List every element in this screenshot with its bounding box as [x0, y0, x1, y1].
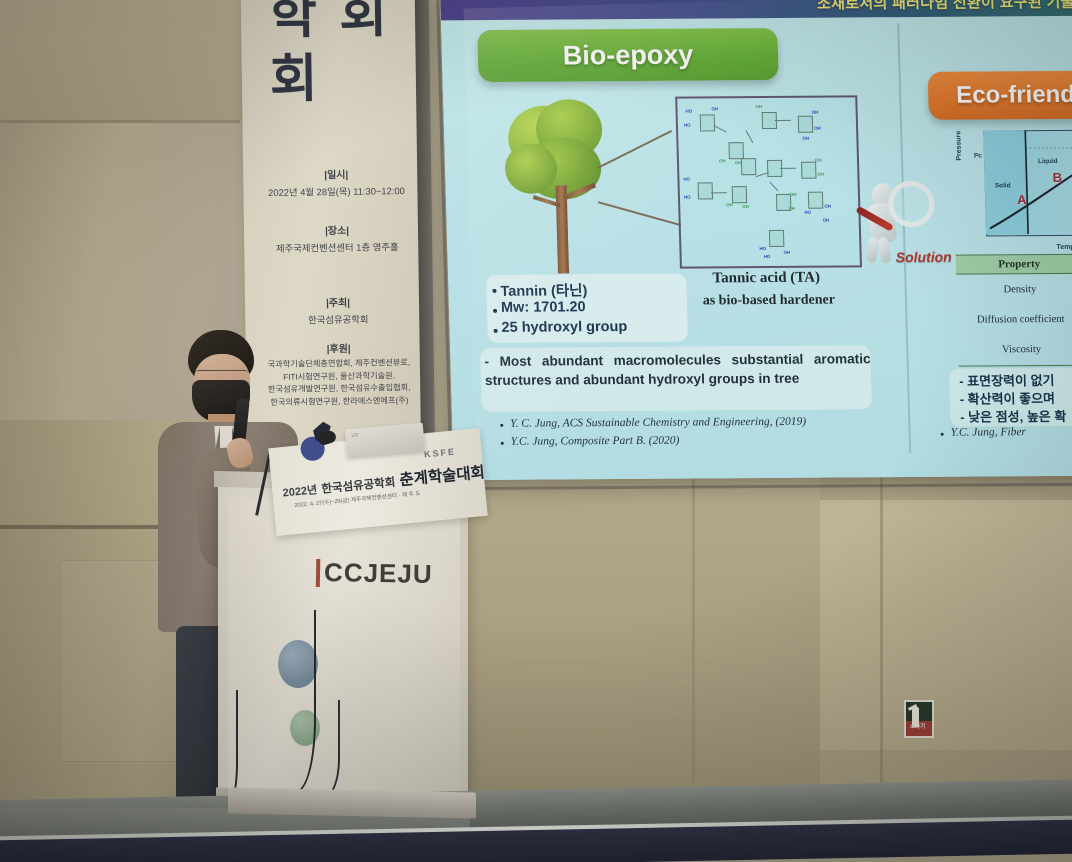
solution-mascot-figure: Solution: [849, 177, 948, 278]
icc-logo-text: CCJEJU: [324, 557, 433, 590]
bullet-dot: [500, 424, 503, 427]
reference-item: Y.C. Jung, Fiber: [950, 426, 1026, 439]
bullet-dot: [492, 289, 496, 293]
table-cell-property: Density: [956, 273, 1072, 305]
table-row: Diffusion coefficient cm²/s: [957, 304, 1072, 336]
list-item: - 확산력이 좋으며: [959, 388, 1055, 408]
slide-title-bar: 소재로서의 패러다임 전환이 요구된 기술: [440, 0, 1072, 20]
mascot-leg: [866, 237, 880, 264]
table-cell-property: Viscosity: [958, 334, 1072, 366]
banner-section-heading-place: |장소|: [244, 221, 430, 239]
projection-screen: 소재로서의 패러다임 전환이 요구된 기술 Bio-epoxy: [440, 0, 1072, 480]
fire-extinguisher-sign: 소화기: [904, 700, 934, 738]
wall-seam: [880, 470, 883, 790]
property-table: Property unit Density g/cm³ Diffusion co…: [956, 253, 1072, 367]
tannic-acid-structure-box: HO OH HO OH OH OH OH OH OH OH OH: [675, 95, 862, 268]
banner-section-heading-date: |일시|: [243, 165, 429, 183]
table-row: Density g/cm³: [956, 273, 1072, 306]
magnifier-lens-icon: [888, 181, 935, 227]
icc-logo-bar: [316, 559, 320, 587]
wall-middle: [420, 455, 880, 815]
banner-section-text-date: 2022년 4월 28일(목) 11:30~12:00: [243, 183, 429, 200]
list-item: 25 hydroxyl group: [501, 319, 627, 336]
podium-front-face: [228, 497, 460, 803]
slide-title-text: 소재로서의 패러다임 전환이 요구된 기술: [817, 0, 1072, 13]
bullet-dot: [493, 309, 497, 313]
fire-sign-top: [906, 702, 932, 721]
icc-jeju-logo: CCJEJU: [316, 555, 437, 599]
wall-top-strip: [0, 0, 250, 122]
phase-axis-ylabel: Pressure: [955, 131, 963, 161]
description-text: - Most abundant macromolecules substanti…: [484, 349, 871, 390]
eco-friendly-heading-text: Eco-friendly: [956, 81, 1072, 110]
table-header-property: Property: [956, 254, 1072, 274]
solution-label: Solution: [895, 249, 951, 265]
phase-axis-xlabel: Temperature: [1056, 244, 1072, 251]
table-row: Viscosity cp: [958, 334, 1072, 367]
wall-seam: [692, 455, 695, 785]
phase-point-b: B: [1052, 170, 1062, 185]
phase-diagram: Liquid Solid Gas SCF A B C Pressure Temp…: [949, 125, 1072, 257]
list-item: - 낮은 점성, 높은 확: [960, 406, 1067, 426]
phase-point-a: A: [1017, 192, 1027, 207]
floor-cable: [300, 700, 340, 798]
eco-friendly-heading-pill: Eco-friendly: [928, 70, 1072, 120]
fire-sign-label: 소화기: [910, 722, 925, 730]
reference-item: Y. C. Jung, ACS Sustainable Chemistry an…: [510, 416, 806, 430]
tree-canopy: [504, 143, 557, 193]
banner-section-heading-host: |주최|: [245, 293, 431, 311]
bio-epoxy-heading-text: Bio-epoxy: [562, 39, 693, 71]
list-item: Mw: 1701.20: [501, 299, 586, 316]
bio-epoxy-heading-pill: Bio-epoxy: [477, 28, 779, 82]
sign-year: 2022년: [282, 484, 318, 499]
banner-section-text-host: 한국섬유공학회: [245, 311, 431, 328]
phase-label-liquid: Liquid: [1038, 158, 1058, 165]
conference-photo-scene: 소화기 소재로서의 패러다임 전환이 요구된 기술 Bio-epoxy: [0, 0, 1072, 862]
phase-tick-pc: Pc: [974, 153, 982, 160]
bullet-dot: [941, 433, 944, 436]
banner-title-line-2: 회: [269, 36, 322, 112]
bullet-dot: [494, 329, 498, 333]
list-item: - 표면장력이 없기: [959, 370, 1055, 390]
wall-seam: [0, 120, 240, 123]
table-cell-property: Diffusion coefficient: [957, 304, 1072, 335]
list-item: Tannin (타닌): [500, 279, 587, 301]
bullet-dot: [501, 442, 504, 445]
tree-illustration: [501, 99, 626, 280]
table-header-row: Property unit: [956, 254, 1072, 275]
laptop-brand-badge: LG: [351, 432, 358, 439]
projected-slide: 소재로서의 패러다임 전환이 요구된 기술 Bio-epoxy: [440, 0, 1072, 480]
banner-section-text-place: 제주국제컨벤션센터 1층 영주홀: [244, 239, 430, 256]
reference-item: Y.C. Jung, Composite Part B. (2020): [511, 435, 680, 448]
phase-label-solid: Solid: [995, 182, 1011, 189]
tannic-acid-subcaption: as bio-based hardener: [671, 292, 867, 309]
podium-floor-plate: [228, 787, 476, 818]
wall-right-panel: [820, 500, 1072, 750]
tannic-acid-caption: Tannic acid (TA): [676, 269, 857, 287]
